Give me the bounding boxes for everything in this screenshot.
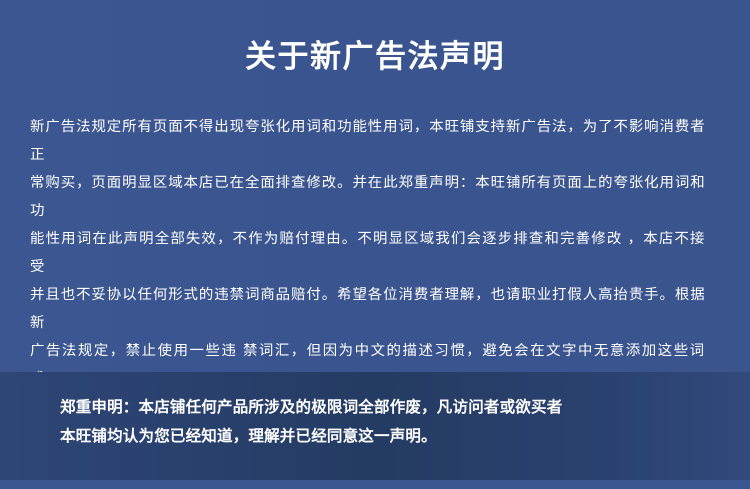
body-line-3: 能性用词在此声明全部失效，不作为赔付理由。不明显区域我们会逐步排查和完善修改 ，… (30, 225, 720, 281)
body-line-4: 并且也不妥协以任何形式的违禁词商品赔付。希望各位消费者理解，也请职业打假人高抬贵… (30, 281, 720, 337)
body-line-1-text: 新广告法规定所有页面不得出现夸张化用词和功能性用词，本旺铺支持新广告法，为了不影… (30, 113, 720, 169)
body-line-2-text: 常购买，页面明显区域本店已在全面排查修改。并在此郑重声明：本旺铺所有页面上的夸张… (30, 169, 720, 225)
declaration-line-1: 郑重申明：本店铺任何产品所涉及的极限词全部作废，凡访问者或欲买者 (60, 393, 705, 422)
body-line-4-text: 并且也不妥协以任何形式的违禁词商品赔付。希望各位消费者理解，也请职业打假人高抬贵… (30, 281, 720, 337)
body-line-2: 常购买，页面明显区域本店已在全面排查修改。并在此郑重声明：本旺铺所有页面上的夸张… (30, 169, 720, 225)
body-line-1: 新广告法规定所有页面不得出现夸张化用词和功能性用词，本旺铺支持新广告法，为了不影… (30, 113, 720, 169)
body-line-3-text: 能性用词在此声明全部失效，不作为赔付理由。不明显区域我们会逐步排查和完善修改 ，… (30, 225, 720, 281)
advertising-law-notice-banner: 关于新广告法声明 新广告法规定所有页面不得出现夸张化用词和功能性用词，本旺铺支持… (0, 0, 750, 489)
declaration-line-2: 本旺铺均认为您已经知道，理解并已经同意这一声明。 (60, 422, 705, 451)
bottom-accent-strip (0, 480, 750, 489)
title-area: 关于新广告法声明 (0, 38, 750, 76)
declaration-text: 郑重申明：本店铺任何产品所涉及的极限词全部作废，凡访问者或欲买者 本旺铺均认为您… (60, 393, 705, 451)
page-title: 关于新广告法声明 (245, 38, 505, 76)
